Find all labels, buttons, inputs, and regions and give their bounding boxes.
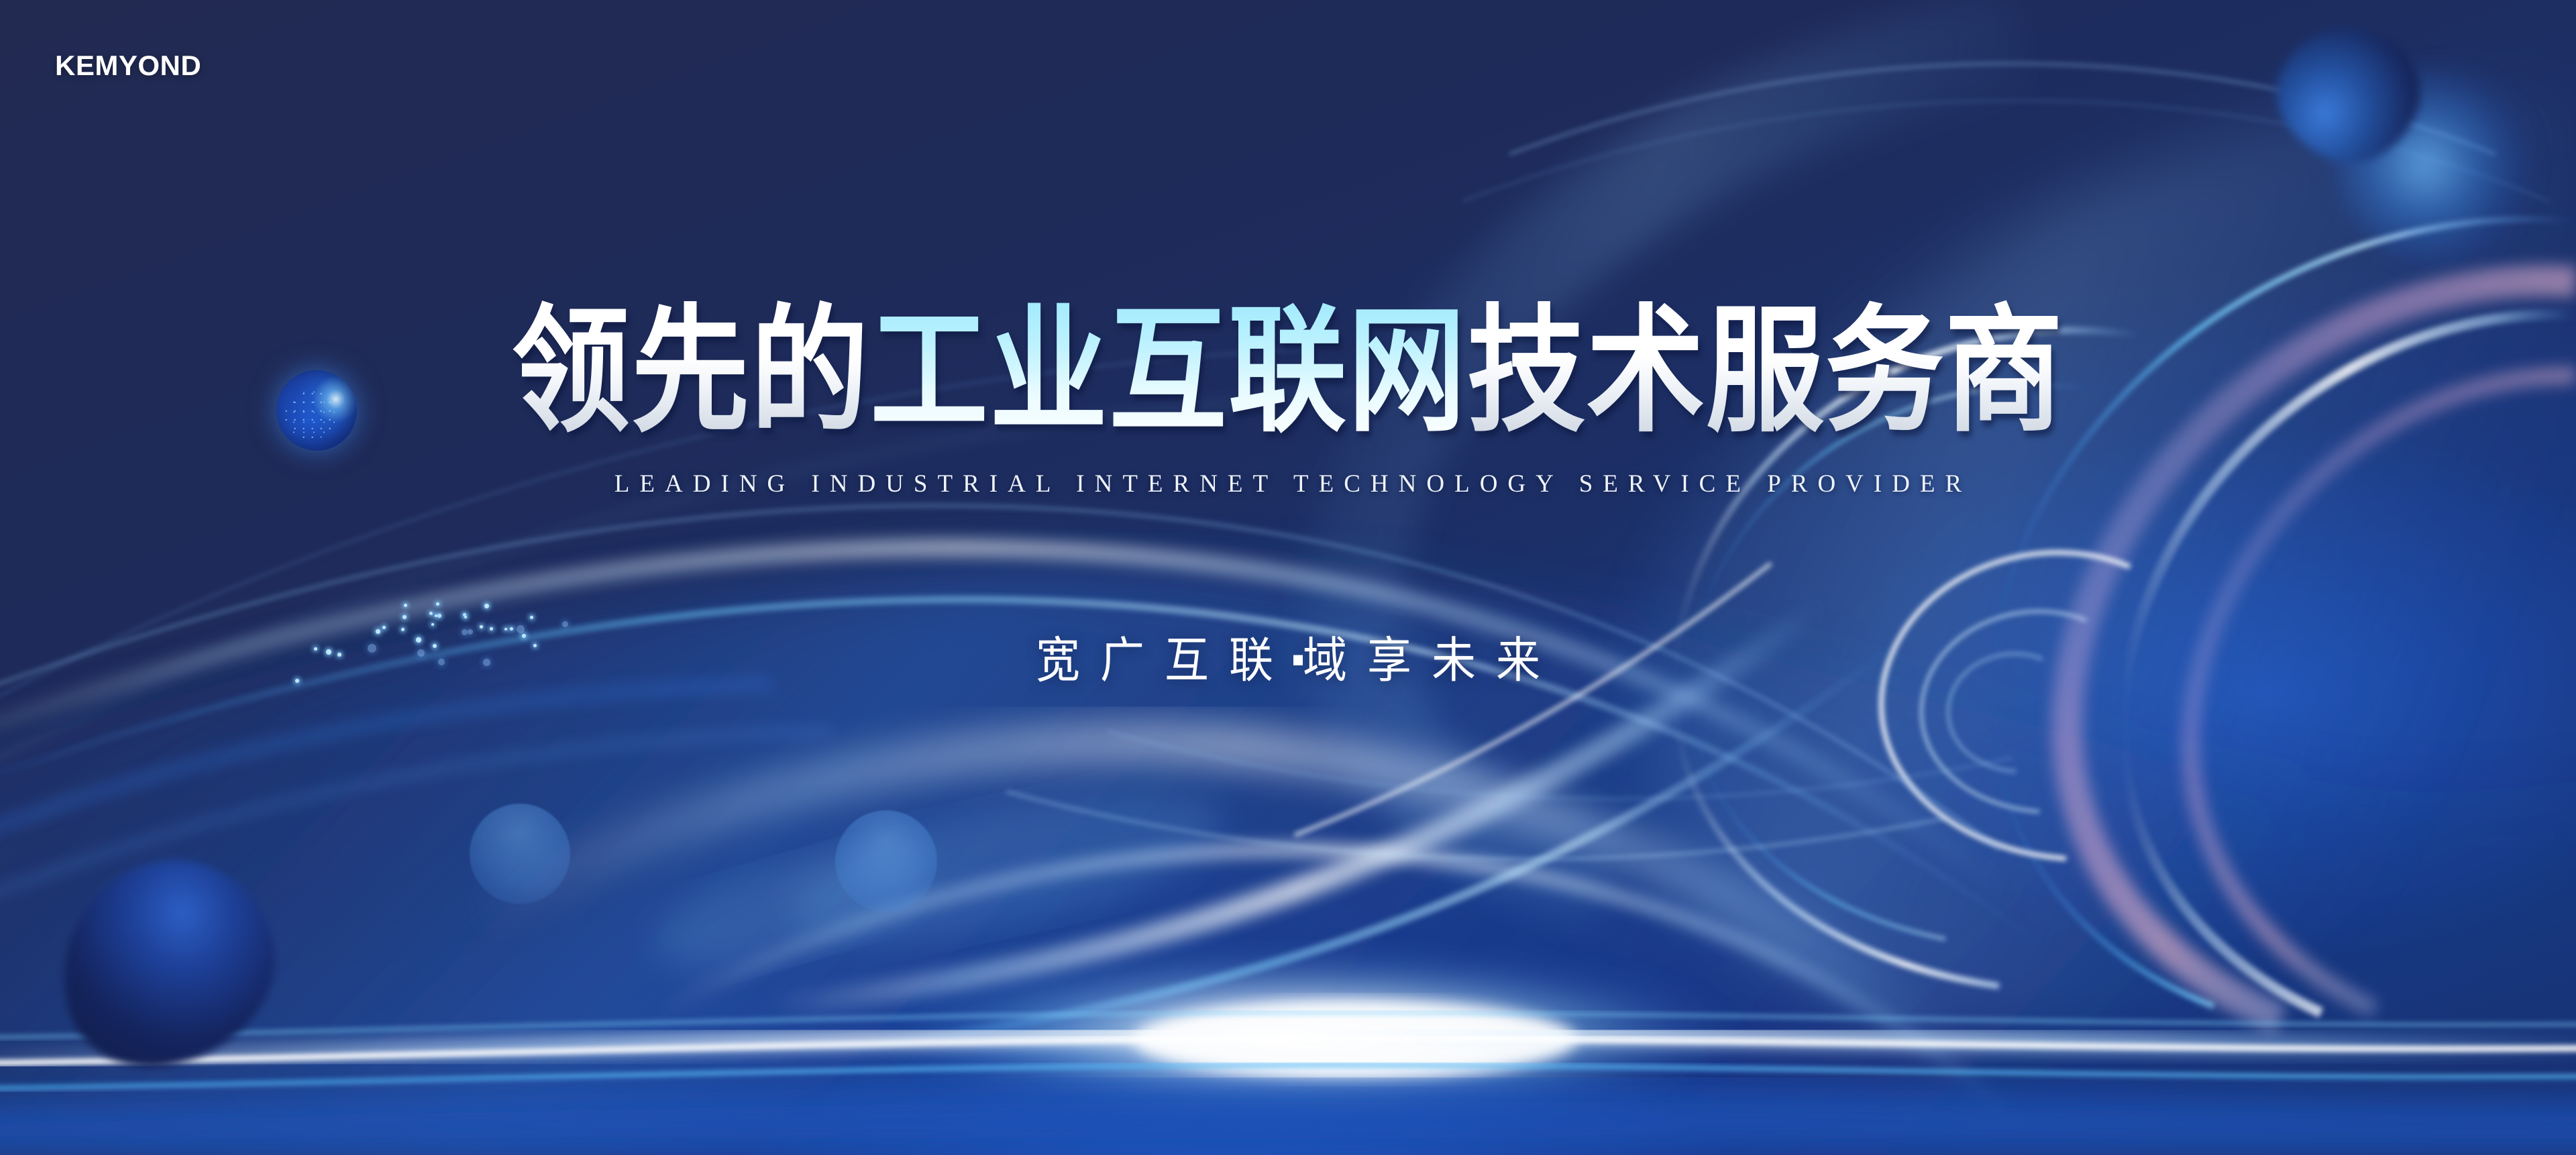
background-artwork — [0, 0, 2576, 1155]
tagline-separator-dot — [1293, 655, 1303, 665]
decor-sphere-two — [835, 810, 937, 912]
particle-dot — [484, 604, 489, 608]
light-ribbon-icon — [0, 0, 2576, 1155]
particle-dot — [464, 616, 467, 618]
particle-dot — [436, 602, 439, 606]
brand-logo: KEMYOND — [55, 50, 201, 82]
particle-dot — [435, 614, 437, 617]
particle-dot — [530, 616, 533, 619]
tagline-left: 宽广互联 — [1036, 633, 1293, 687]
particle-dot — [437, 614, 441, 618]
page-subtitle: LEADING INDUSTRIAL INTERNET TECHNOLOGY S… — [0, 470, 2576, 498]
tagline-right: 域享未来 — [1303, 633, 1560, 687]
particle-dot — [404, 604, 407, 607]
hero-banner: KEMYOND 领先的工业互联网技术服务商 LEADING INDUSTRIAL… — [0, 0, 2576, 1155]
page-title: 领先的工业互联网技术服务商 — [0, 303, 2576, 440]
particle-dot — [429, 612, 433, 615]
page-tagline: 宽广互联域享未来 — [0, 621, 2576, 692]
headline-segment-lead: 领先的 — [512, 295, 870, 447]
headline-segment-highlight: 工业互联网 — [870, 295, 1467, 447]
decor-sphere-one — [470, 804, 570, 904]
particle-dot — [402, 615, 407, 619]
headline-segment-tail: 技术服务商 — [1467, 295, 2064, 447]
dark-blob-left — [39, 839, 296, 1087]
